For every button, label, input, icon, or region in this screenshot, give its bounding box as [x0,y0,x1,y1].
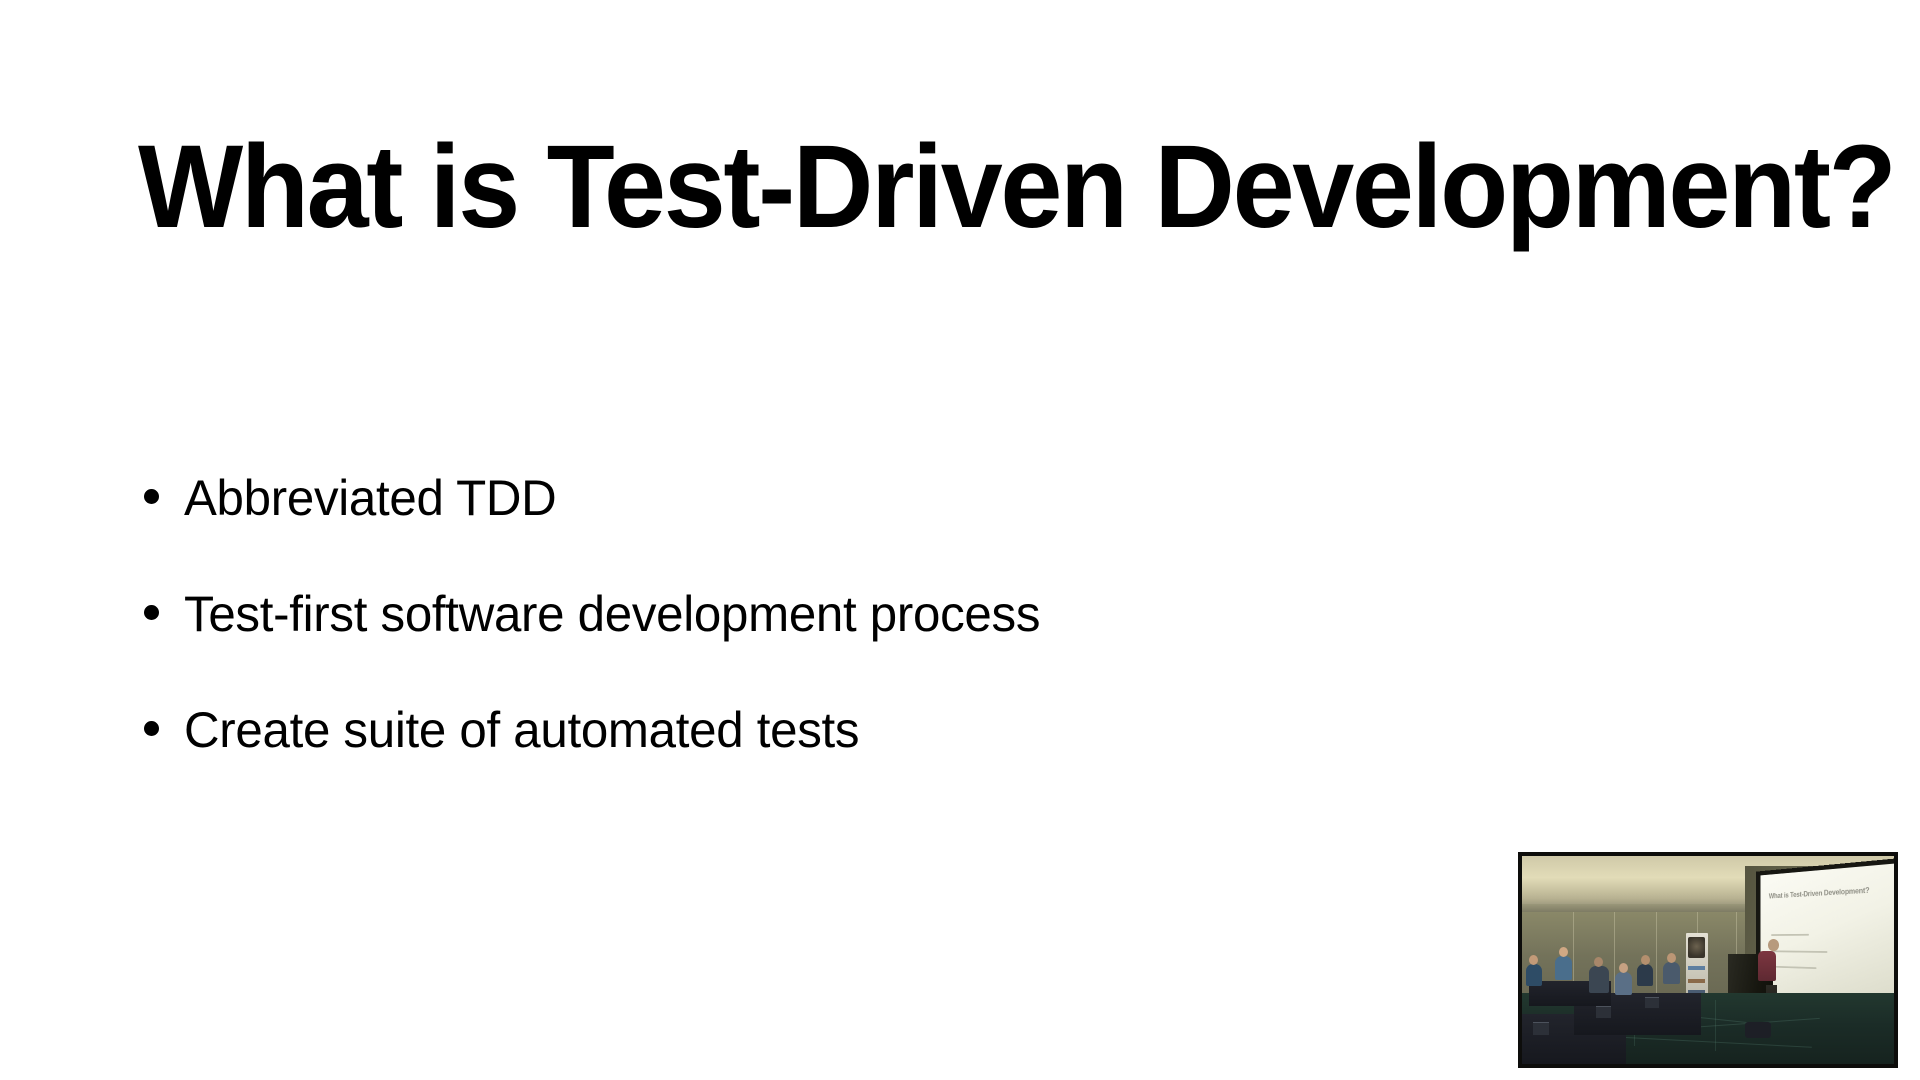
bullet-item: Create suite of automated tests [138,690,1438,806]
bullet-item: Abbreviated TDD [138,458,1438,574]
audience-member-head [1667,953,1676,963]
presenter-head [1768,939,1779,951]
picture-in-picture-video[interactable]: What is Test-Driven Development? [1518,852,1898,1068]
audience-member [1663,962,1680,984]
slide-bullet-list: Abbreviated TDD Test-first software deve… [138,458,1438,806]
audience-member-head [1619,963,1628,973]
audience-member [1615,972,1632,995]
audience-member [1637,964,1653,986]
audience-member [1526,964,1542,986]
audience-member [1589,966,1609,993]
carpet-pattern-line [1715,1000,1716,1051]
projected-slide-title: What is Test-Driven Development? [1769,885,1869,900]
audience-member-head [1594,957,1603,967]
conference-room-scene: What is Test-Driven Development? [1522,856,1894,1064]
banner-stripe [1688,966,1705,970]
side-chair [1745,1022,1771,1038]
laptop [1533,1022,1549,1035]
banner-graphic [1688,937,1705,958]
projected-bullet-line [1772,934,1809,936]
audience-member [1555,956,1572,980]
audience-member-head [1641,955,1650,965]
bullet-text: Abbreviated TDD [184,458,556,538]
bullet-item: Test-first software development process [138,574,1438,690]
wall-panel-seam [1656,912,1657,993]
audience-member-head [1559,947,1568,957]
bullet-dot-icon [144,605,159,620]
audience-member-head [1529,955,1538,965]
bullet-text: Create suite of automated tests [184,690,859,770]
slide-title: What is Test-Driven Development? [138,125,1745,250]
projected-bullet-line [1772,950,1828,953]
laptop [1645,997,1659,1008]
bullet-text: Test-first software development process [184,574,1040,654]
banner-stripe [1688,979,1705,983]
projected-bullet-line [1772,966,1817,969]
presentation-slide: What is Test-Driven Development? Abbrevi… [0,0,1920,1080]
presenter-body [1758,951,1776,981]
bullet-dot-icon [144,489,159,504]
bullet-dot-icon [144,721,159,736]
laptop [1596,1006,1611,1018]
